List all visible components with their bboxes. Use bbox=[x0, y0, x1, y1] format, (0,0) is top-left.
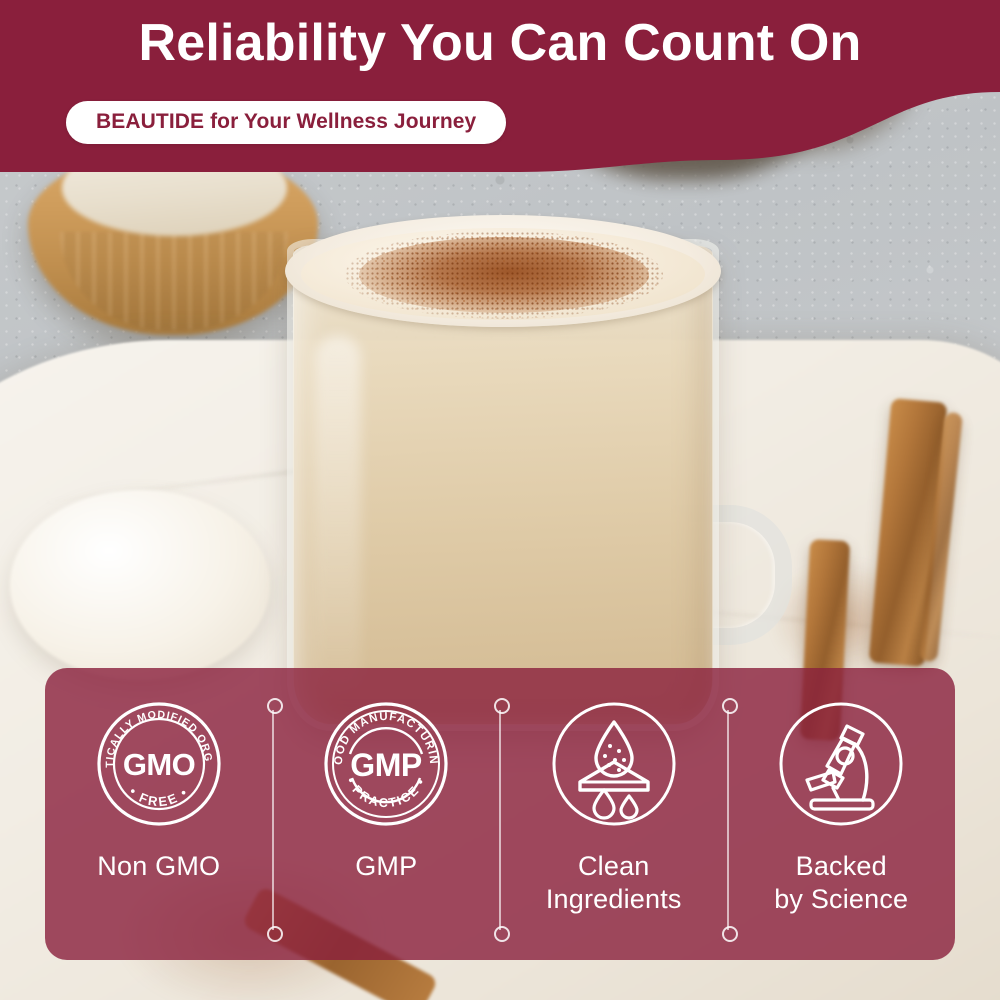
page-title: Reliability You Can Count On bbox=[0, 14, 1000, 74]
badge-label: Clean Ingredients bbox=[546, 850, 682, 916]
cinnamon-speckles bbox=[345, 231, 663, 319]
badge-label: GMP bbox=[355, 850, 417, 883]
badge-item-non-gmo[interactable]: GENETICALLY MODIFIED ORGANISM • FREE • G… bbox=[45, 668, 273, 960]
svg-text:GMO: GMO bbox=[123, 747, 195, 782]
badge-item-backed-by-science[interactable]: Backed by Science bbox=[728, 668, 956, 960]
badge-label: Non GMO bbox=[97, 850, 220, 883]
white-dish bbox=[10, 490, 270, 680]
subtitle-pill: BEAUTIDE for Your Wellness Journey bbox=[66, 101, 506, 144]
header-banner: Reliability You Can Count On BEAUTIDE fo… bbox=[0, 0, 1000, 172]
gmp-seal-icon: GOOD MANUFACTURING • PRACTICE • GMP bbox=[322, 700, 450, 828]
svg-text:GMP: GMP bbox=[351, 747, 423, 783]
microscope-icon bbox=[777, 700, 905, 828]
non-gmo-seal-icon: GENETICALLY MODIFIED ORGANISM • FREE • G… bbox=[95, 700, 223, 828]
filtered-droplet-icon bbox=[550, 700, 678, 828]
latte-glass-mug bbox=[275, 215, 730, 735]
trust-badge-panel: GENETICALLY MODIFIED ORGANISM • FREE • G… bbox=[45, 668, 955, 960]
badge-label: Backed by Science bbox=[774, 850, 908, 916]
badge-item-gmp[interactable]: GOOD MANUFACTURING • PRACTICE • GMP GMP bbox=[273, 668, 501, 960]
marketing-poster: Reliability You Can Count On BEAUTIDE fo… bbox=[0, 0, 1000, 1000]
badge-item-clean-ingredients[interactable]: Clean Ingredients bbox=[500, 668, 728, 960]
svg-text:• FREE •: • FREE • bbox=[126, 784, 192, 809]
